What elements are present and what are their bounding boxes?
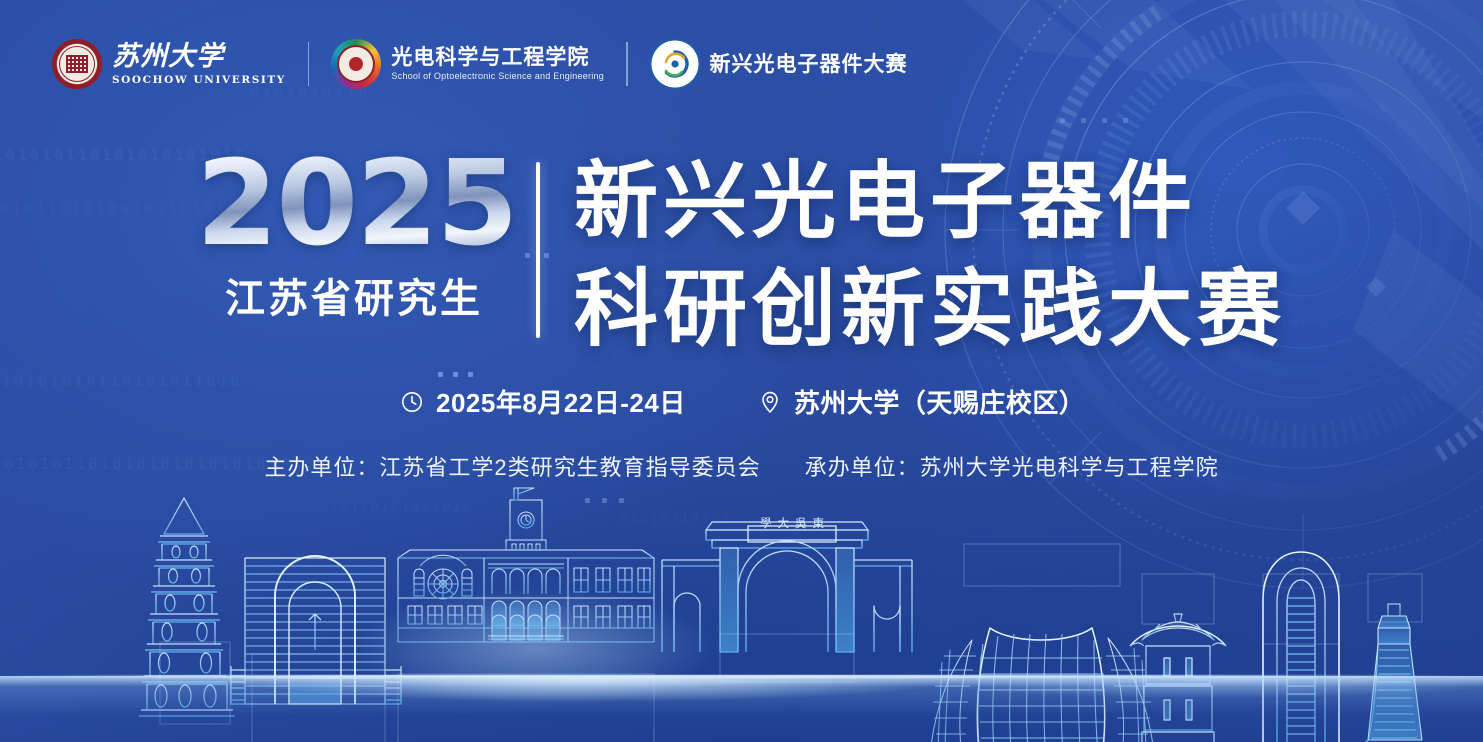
year-block: 2025 江苏省研究生 [196, 146, 512, 324]
header-logo-bar: 苏州大学 SOOCHOW UNIVERSITY 光电科学与工程学院 School… [52, 33, 908, 95]
logo-divider [308, 42, 310, 86]
logo-divider [626, 42, 628, 86]
logo-optoelectronic-name-cn: 光电科学与工程学院 [391, 47, 604, 68]
logo-soochow-name-cn: 苏州大学 [112, 43, 286, 70]
optoelectronic-school-seal-icon [331, 39, 381, 89]
hero-title-line-2: 科研创新实践大赛 [574, 256, 1286, 364]
organizer-unit-text: 承办单位：苏州大学光电科学与工程学院 [805, 450, 1219, 482]
logo-soochow-name-en: SOOCHOW UNIVERSITY [112, 75, 286, 86]
dot-row-icon [438, 372, 473, 377]
logo-contest: 新兴光电子器件大赛 [650, 39, 908, 89]
hero-year: 2025 [196, 146, 512, 262]
hero-year-subtitle: 江苏省研究生 [196, 266, 512, 324]
poster-canvas: 101010110101010101010 010110101001011010… [0, 0, 1483, 742]
event-location-text: 苏州大学（天赐庄校区） [794, 383, 1086, 420]
contest-emblem-icon [650, 39, 700, 89]
host-unit-text: 主办单位：江苏省工学2类研究生教育指导委员会 [264, 450, 760, 482]
logo-contest-text: 新兴光电子器件大赛 [710, 54, 908, 75]
logo-soochow-university: 苏州大学 SOOCHOW UNIVERSITY [52, 39, 286, 89]
logo-optoelectronic-name-en: School of Optoelectronic Science and Eng… [391, 72, 604, 81]
dot-row-icon [1060, 118, 1128, 123]
location-pin-icon [758, 390, 782, 414]
logo-soochow-text: 苏州大学 SOOCHOW UNIVERSITY [112, 43, 286, 86]
city-skyline-illustration: 學大吳東 [0, 480, 1483, 742]
binary-decor-text: 0101101010010110101 [0, 200, 229, 218]
binary-decor-text: 110101010110101011010 [0, 372, 243, 390]
organizing-units-row: 主办单位：江苏省工学2类研究生教育指导委员会 承办单位：苏州大学光电科学与工程学… [0, 450, 1483, 482]
soochow-university-seal-icon [52, 39, 102, 89]
event-date-text: 2025年8月22日-24日 [436, 383, 686, 420]
event-date-item: 2025年8月22日-24日 [400, 383, 686, 420]
hero-title-line-1: 新兴光电子器件 [574, 148, 1286, 256]
contest-swirl-icon [660, 49, 690, 79]
logo-optoelectronic-school: 光电科学与工程学院 School of Optoelectronic Scien… [331, 39, 604, 89]
event-location-item: 苏州大学（天赐庄校区） [758, 383, 1086, 420]
hero-title-block: 新兴光电子器件 科研创新实践大赛 [574, 148, 1286, 363]
clock-icon [400, 390, 424, 414]
gate-inscription-text: 學大吳東 [760, 516, 830, 530]
hero-vertical-divider [536, 162, 540, 338]
event-meta-row: 2025年8月22日-24日 苏州大学（天赐庄校区） [400, 383, 1085, 420]
logo-contest-name-cn: 新兴光电子器件大赛 [710, 54, 908, 75]
logo-optoelectronic-text: 光电科学与工程学院 School of Optoelectronic Scien… [391, 47, 604, 81]
